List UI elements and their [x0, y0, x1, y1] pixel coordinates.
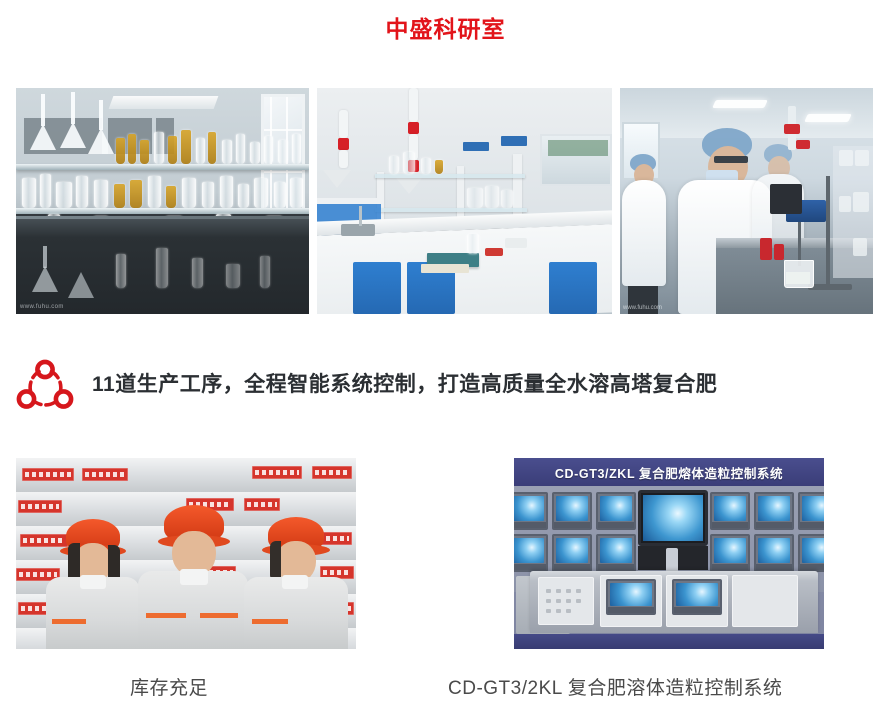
lab-glassware-photo: www.fuhu.com	[16, 88, 309, 314]
control-console-desk	[530, 571, 818, 633]
lab-bench-photo	[317, 88, 612, 314]
page-title: 中盛科研室	[0, 14, 891, 44]
lab-bench-scene	[317, 88, 612, 314]
promo-page: 中盛科研室	[0, 0, 891, 711]
warehouse-workers-caption: 库存充足	[130, 676, 208, 702]
top-photo-gallery: www.fuhu.com	[16, 88, 873, 314]
tagline-text: 11道生产工序，全程智能系统控制，打造高质量全水溶高塔复合肥	[92, 370, 717, 400]
watermark-label: www.fuhu.com	[623, 305, 662, 311]
control-system-caption: CD-GT3/2KL 复合肥溶体造粒控制系统	[448, 676, 782, 702]
lab-technicians-photo: www.fuhu.com	[620, 88, 873, 314]
control-system-banner: CD-GT3/ZKL 复合肥熔体造粒控制系统	[514, 458, 824, 486]
three-circle-process-icon	[16, 359, 74, 411]
tagline-row: 11道生产工序，全程智能系统控制，打造高质量全水溶高塔复合肥	[16, 352, 876, 418]
lab-glassware-scene: www.fuhu.com	[16, 88, 309, 314]
control-system-photo: CD-GT3/ZKL 复合肥熔体造粒控制系统	[514, 458, 824, 649]
watermark-label: www.fuhu.com	[20, 304, 64, 310]
warehouse-workers-photo	[16, 458, 356, 649]
control-system-banner-text: CD-GT3/ZKL 复合肥熔体造粒控制系统	[555, 463, 783, 482]
lab-technicians-scene: www.fuhu.com	[620, 88, 873, 314]
